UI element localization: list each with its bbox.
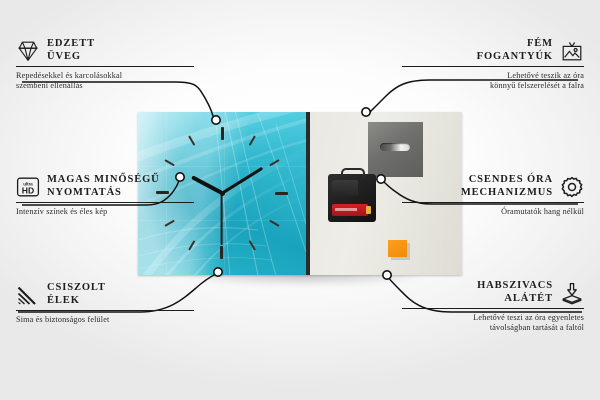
- callout-rule: [16, 310, 194, 311]
- clock-center-pin: [220, 191, 225, 196]
- callout-metal-handles: FÉM FOGANTYÚK Lehetővé teszik az óra kön…: [402, 38, 584, 92]
- quartz-mechanism: [328, 174, 376, 222]
- callout-subtitle: Sima és biztonságos felület: [16, 315, 194, 326]
- mechanism-ridge: [332, 180, 358, 196]
- second-hand: [221, 193, 223, 245]
- callout-title: MAGAS MINŐSÉGŰ NYOMTATÁS: [47, 174, 160, 199]
- callout-rule: [16, 202, 194, 203]
- callout-rule: [16, 66, 194, 67]
- callout-rule: [402, 202, 584, 203]
- callout-silent-mechanism: CSENDES ÓRA MECHANIZMUS Óramutatók hang …: [402, 174, 584, 217]
- callout-subtitle: Lehetővé teszi az óra egyenletes távolsá…: [402, 313, 584, 334]
- callout-polished-edges: CSISZOLT ÉLEK Sima és biztonságos felüle…: [16, 282, 194, 325]
- callout-subtitle: Repedésekkel és karcolásokkal szembeni e…: [16, 71, 194, 92]
- ultra-hd-icon: ultra HD: [16, 175, 40, 199]
- svg-text:HD: HD: [22, 185, 34, 195]
- gear-icon: [560, 175, 584, 199]
- callout-title: FÉM FOGANTYÚK: [477, 38, 553, 63]
- callout-rule: [402, 308, 584, 309]
- battery: [332, 204, 368, 216]
- callout-rule: [402, 66, 584, 67]
- foam-pad: [388, 240, 407, 257]
- callout-high-quality-print: ultra HD MAGAS MINŐSÉGŰ NYOMTATÁS Intenz…: [16, 174, 194, 217]
- infographic-canvas: EDZETT ÜVEG Repedésekkel és karcolásokka…: [0, 0, 600, 400]
- callout-subtitle: Lehetővé teszik az óra könnyű felszerelé…: [402, 71, 584, 92]
- callout-title: EDZETT ÜVEG: [47, 38, 95, 63]
- callout-subtitle: Óramutatók hang nélkül: [402, 207, 584, 218]
- callout-title: CSISZOLT ÉLEK: [47, 282, 106, 307]
- mechanism-lug: [341, 168, 365, 178]
- picture-hanger-icon: [560, 39, 584, 63]
- press-pad-icon: [560, 281, 584, 305]
- callout-title: HABSZIVACS ALÁTÉT: [477, 280, 553, 305]
- metal-hanger-plate: [368, 122, 423, 177]
- callout-tempered-glass: EDZETT ÜVEG Repedésekkel és karcolásokka…: [16, 38, 194, 92]
- diamond-icon: [16, 39, 40, 63]
- polished-edge-icon: [16, 283, 40, 307]
- callout-title: CSENDES ÓRA MECHANIZMUS: [461, 174, 553, 199]
- hanger-slot: [380, 143, 410, 151]
- callout-subtitle: Intenzív színek és éles kép: [16, 207, 194, 218]
- callout-foam-pad: HABSZIVACS ALÁTÉT Lehetővé teszi az óra …: [402, 280, 584, 334]
